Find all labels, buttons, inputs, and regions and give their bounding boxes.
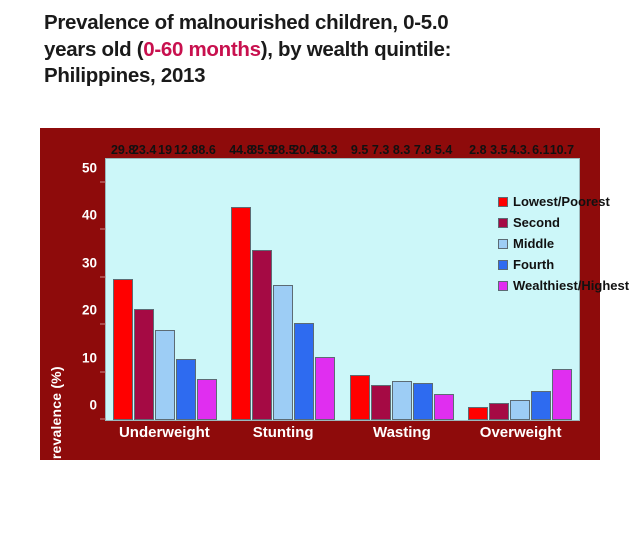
legend-swatch-icon [498,197,508,207]
title-line-2-suffix: ), by wealth quintile: [261,38,451,61]
y-axis-tick-label: 40 [82,208,106,223]
bar[interactable]: 8.3 [392,381,412,420]
legend-swatch-icon [498,260,508,270]
bar-value-label: 12.8 [174,143,198,157]
legend-item[interactable]: Wealthiest/Highest [498,275,629,296]
x-axis-labels: UnderweightStuntingWastingOverweight [105,424,580,441]
bar-column[interactable]: 9.5 [350,159,370,420]
bar[interactable]: 29.8 [113,279,133,420]
bar[interactable]: 13.3 [315,357,335,420]
title-line-2-prefix: years old ( [44,38,143,61]
bar-group: 44.835.928.520.413.3 [224,159,342,420]
bar-column[interactable]: 8.6 [197,159,217,420]
bar[interactable]: 2.8 [468,407,488,420]
y-axis-tick-label: 0 [89,398,106,413]
bar-value-label: 2.8 [469,143,486,157]
legend-label: Wealthiest/Highest [513,278,629,293]
bar[interactable]: 3.5 [489,403,509,420]
bar[interactable]: 8.6 [197,379,217,420]
bar[interactable]: 7.8 [413,383,433,420]
x-axis-category-label: Overweight [461,424,580,441]
chart-panel: Prevalence (%) 01020304050 29.823.41912.… [40,128,600,460]
bar-column[interactable]: 35.9 [252,159,272,420]
bar[interactable]: 19 [155,330,175,420]
y-axis-tick-label: 50 [82,160,106,175]
legend-label: Lowest/Poorest [513,194,610,209]
bar[interactable]: 20.4 [294,323,314,420]
bar-column[interactable]: 8.3 [392,159,412,420]
x-axis-category-label: Stunting [224,424,343,441]
bar[interactable]: 4.3. [510,400,530,420]
bar-group: 9.57.38.37.85.4 [343,159,461,420]
bar-column[interactable]: 13.3 [315,159,335,420]
x-axis-category-label: Underweight [105,424,224,441]
bar[interactable]: 35.9 [252,250,272,420]
bar-column[interactable]: 2.8 [468,159,488,420]
bar-column[interactable]: 23.4 [134,159,154,420]
bar-value-label: 4.3. [509,143,530,157]
bar-value-label: 7.3 [372,143,389,157]
title-highlight-months: 0-60 months [143,38,260,61]
legend-label: Second [513,215,560,230]
bar-column[interactable]: 28.5 [273,159,293,420]
y-axis-tick-label: 20 [82,303,106,318]
bar[interactable]: 23.4 [134,309,154,420]
title-line-1-text: Prevalence of malnourished children, 0-5… [44,11,448,34]
bar[interactable]: 10.7 [552,369,572,420]
bar[interactable]: 6.1 [531,391,551,420]
bar-value-label: 6.1 [532,143,549,157]
legend-swatch-icon [498,239,508,249]
bar-column[interactable]: 20.4 [294,159,314,420]
title-line-1: Prevalence of malnourished children, 0-5… [44,10,604,37]
bar[interactable]: 5.4 [434,394,454,420]
legend-label: Middle [513,236,554,251]
bar-column[interactable]: 29.8 [113,159,133,420]
legend-item[interactable]: Fourth [498,254,629,275]
bar[interactable]: 9.5 [350,375,370,420]
title-line-2: years old (0-60 months), by wealth quint… [44,37,604,64]
bar-column[interactable]: 7.3 [371,159,391,420]
bar-value-label: 8.3 [393,143,410,157]
bar-value-label: 8.6 [198,143,215,157]
bar-value-label: 7.8 [414,143,431,157]
page-title: Prevalence of malnourished children, 0-5… [44,10,604,90]
y-axis-tick-label: 30 [82,255,106,270]
bar-group: 29.823.41912.88.6 [106,159,224,420]
bar-value-label: 3.5 [490,143,507,157]
title-line-3: Philippines, 2013 [44,63,604,90]
title-line-3-text: Philippines, 2013 [44,64,205,87]
bar-value-label: 23.4 [132,143,156,157]
bar[interactable]: 7.3 [371,385,391,420]
bar-value-label: 9.5 [351,143,368,157]
bar[interactable]: 12.8 [176,359,196,420]
legend-swatch-icon [498,218,508,228]
chart-legend: Lowest/PoorestSecondMiddleFourthWealthie… [494,189,633,298]
plot-area: 01020304050 29.823.41912.88.644.835.928.… [105,158,580,421]
bar[interactable]: 44.8 [231,207,251,420]
legend-item[interactable]: Middle [498,233,629,254]
bar-value-label: 5.4 [435,143,452,157]
bar-column[interactable]: 19 [155,159,175,420]
bar-column[interactable]: 12.8 [176,159,196,420]
y-axis-tick-label: 10 [82,350,106,365]
legend-item[interactable]: Second [498,212,629,233]
legend-item[interactable]: Lowest/Poorest [498,191,629,212]
legend-swatch-icon [498,281,508,291]
legend-label: Fourth [513,257,554,272]
bar-column[interactable]: 7.8 [413,159,433,420]
bar-column[interactable]: 5.4 [434,159,454,420]
bar-value-label: 10.7 [550,143,574,157]
y-axis-title: Prevalence (%) [48,286,70,549]
bar-column[interactable]: 44.8 [231,159,251,420]
x-axis-category-label: Wasting [343,424,462,441]
bar-value-label: 13.3 [313,143,337,157]
bar[interactable]: 28.5 [273,285,293,420]
bar-value-label: 19 [158,143,172,157]
